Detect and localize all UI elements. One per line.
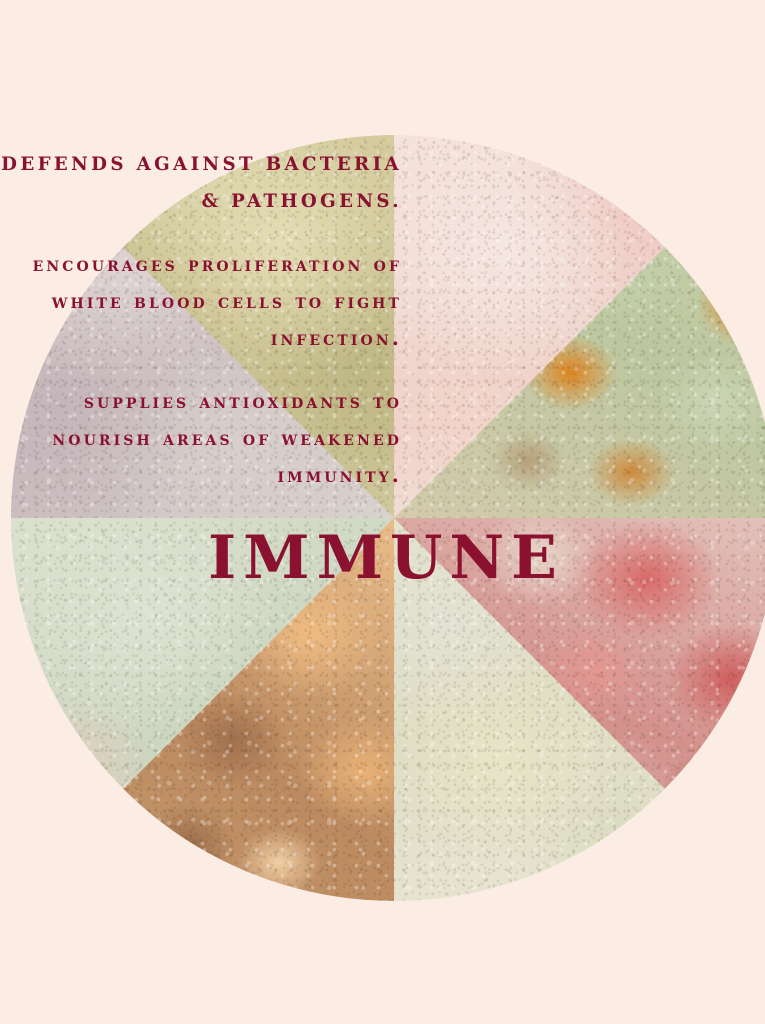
immune-poster: DEFENDS AGAINST BACTERIA & PATHOGENS. En… [0, 0, 765, 1024]
benefit-paragraph-defends: DEFENDS AGAINST BACTERIA & PATHOGENS. [0, 146, 402, 220]
benefit-paragraph-encourages: Encourages proliferation of white blood … [0, 246, 402, 357]
wheel-quadrant-top-right [394, 135, 765, 518]
benefits-copy-block: DEFENDS AGAINST BACTERIA & PATHOGENS. En… [0, 146, 404, 494]
benefit-paragraph-supplies: Supplies antioxidants to nourish areas o… [0, 383, 402, 494]
wordmark-immune: IMMUNE [0, 528, 765, 588]
